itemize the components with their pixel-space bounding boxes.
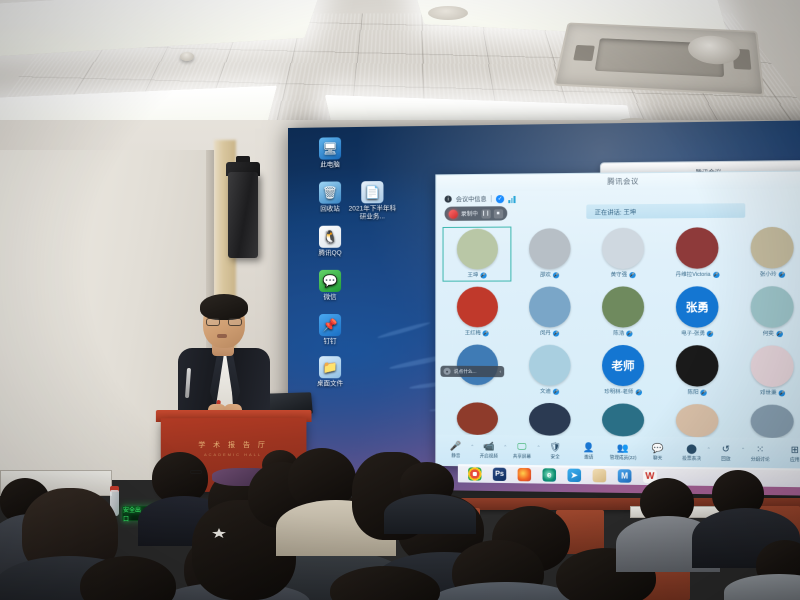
presenter-mouth [217,334,227,338]
mic-status-icon: 🎤 [635,389,641,395]
desktop-doc-icon: 📄 [361,181,383,203]
toolbar-icon: 📹 [483,441,495,452]
toolbar-label: 聊天 [653,455,662,461]
meeting-status-row: 录制中 ❙❙ ■ 正在讲话: 王坤 [436,203,800,224]
toolbar-静音-button[interactable]: 🎤静音^ [444,441,469,460]
taskbar-chrome-icon[interactable] [468,467,481,480]
participant-name-text: 张小玲 [760,271,777,278]
participant-avatar: 张勇 [676,286,719,327]
popup-avatar-icon: ● [444,368,451,375]
participant-avatar: 老师 [602,345,644,386]
record-icon [449,209,458,218]
projection-screen[interactable]: 🖥此电脑🗑回收站📄2021年下半年科研业务...🐧腾讯QQ💬微信📌钉钉📁桌面文件… [288,120,800,496]
participant-name-text: 王红梅 [465,329,481,336]
eyeglasses-icon [206,318,242,326]
signal-strength-icon [508,194,515,202]
toolbar-label: 管理成员(22) [610,455,637,461]
wall-speaker [228,172,258,258]
divider [491,195,492,202]
desktop-icon-label: 微信 [304,294,356,302]
participant-grid-row-1: 王坤🎤邵欢🎤黄守强🎤丹维拉Victoria🎤张小玲🎤 [443,225,800,282]
mic-status-icon: 🎤 [707,330,713,336]
desktop-icon-0[interactable]: 🖥此电脑 [304,137,356,170]
mic-status-icon: 🎤 [553,330,559,336]
mic-status-icon: 🎤 [779,390,785,396]
audience-shoulders [724,574,800,600]
participant-tile[interactable]: 邵欢🎤 [515,226,585,281]
desktop-icon-3[interactable]: 🐧腾讯QQ [304,226,356,259]
participant-name-text: 丹维拉Victoria [676,271,711,278]
participant-tile[interactable]: 黄守强🎤 [588,226,659,282]
toolbar-投票表决-button[interactable]: ⬤投票表决^ [679,443,705,462]
toolbar-icon: 🛡 [549,442,561,453]
participant-avatar [751,345,794,387]
participant-name-text: 邵欢 [540,271,551,278]
participant-tile[interactable]: 丹维拉Victoria🎤 [662,225,734,281]
participant-name-text: 王坤 [468,271,479,278]
audience-shoulders [384,494,476,534]
ceiling-spot [428,6,468,20]
toolbar-label: 应用 [790,457,800,463]
desktop-icon-label: 钉钉 [304,338,356,346]
desktop-icon-4[interactable]: 💬微信 [304,270,356,302]
desktop-icon-2[interactable]: 📄2021年下半年科研业务... [346,181,399,222]
desktop-bin-icon: 🗑 [319,181,341,203]
quick-comment-popup[interactable]: ● 说点什么... ‹ [440,366,504,377]
participant-avatar [751,227,794,269]
participant-name: 文迪🎤 [540,388,559,395]
quick-comment-text: 说点什么... [454,368,477,374]
toolbar-共享屏幕-button[interactable]: 🖵共享屏幕^ [509,441,534,460]
participant-tile[interactable]: 邓世秉🎤 [736,343,800,399]
participant-name: 王坤🎤 [468,271,487,278]
toolbar-开启视频-button[interactable]: 📹开启视频^ [476,441,501,460]
participant-avatar [456,287,497,328]
participant-name: 黄守强🎤 [611,271,636,278]
mic-status-icon: 🎤 [701,389,707,395]
toolbar-回放-button[interactable]: ↺回放^ [713,444,739,463]
encryption-shield-icon[interactable]: ✓ [496,195,504,203]
participant-name: 陈浩🎤 [613,330,632,337]
participant-avatar [676,345,719,387]
participant-tile[interactable] [443,400,512,435]
mic-status-icon: 🎤 [553,272,559,278]
taskbar-edge-icon[interactable]: e [543,468,557,481]
desktop-pc-icon: 🖥 [319,137,341,159]
taskbar-photoshop-icon[interactable]: Ps [493,467,506,480]
meeting-info-label[interactable]: 会议中信息 [456,194,487,203]
mic-status-icon: 🎤 [776,330,782,336]
participant-name: 邓世秉🎤 [760,389,785,396]
toolbar-label: 共享屏幕 [513,454,531,460]
mic-status-icon: 🎤 [629,271,635,277]
taskbar-blue-app-icon[interactable]: M [618,469,632,483]
participant-tile[interactable]: 文迪🎤 [515,343,585,399]
toolbar-label: 开启视频 [480,453,498,459]
toolbar-安全-button[interactable]: 🛡安全 [543,442,568,461]
participant-avatar [529,403,571,436]
participant-tile[interactable]: 陈阳🎤 [662,343,734,399]
active-speaker-banner: 正在讲话: 王坤 [586,203,745,219]
stop-recording-button[interactable]: ■ [493,209,502,218]
toolbar-邀请-button[interactable]: 👤邀请 [576,442,601,461]
participant-avatar [602,403,644,436]
toolbar-label: 回放 [721,456,730,462]
toolbar-label: 邀请 [584,454,593,460]
participant-grid-row-2: 王红梅🎤闵丹🎤陈浩🎤张勇电子-张勇🎤何奕🎤 [443,284,800,340]
participant-tile[interactable] [588,401,659,437]
recording-pill[interactable]: 录制中 ❙❙ ■ [445,206,507,221]
mic-status-icon: 🎤 [483,330,489,336]
participant-tile[interactable] [662,402,734,438]
participant-name: 电子-张勇🎤 [681,330,713,337]
participant-name: 王红梅🎤 [465,329,489,336]
chevron-up-icon[interactable]: ^ [538,444,540,449]
recording-label: 录制中 [461,209,478,217]
tencent-meeting-window[interactable]: 腾讯会议 i 会议中信息 ✓ 录制中 ❙❙ ■ 正在讲话: 王坤 王 [435,170,800,470]
desktop-icon-6[interactable]: 📁桌面文件 [304,356,356,389]
participant-name-text: 文迪 [540,388,551,395]
participant-tile[interactable] [736,402,800,438]
participant-tile[interactable]: 张小玲🎤 [736,225,800,281]
toolbar-icon: ⬤ [685,443,698,455]
participant-tile[interactable]: 王红梅🎤 [443,285,512,340]
toolbar-icon: ⁙ [754,444,767,456]
participant-avatar [602,286,644,327]
participant-name: 张小玲🎤 [760,271,785,278]
participant-name: 何奕🎤 [763,330,783,337]
participant-name-text: 陈浩 [613,330,624,337]
chevron-up-icon[interactable]: ^ [742,446,744,451]
participant-avatar [529,287,571,328]
lecture-hall-photo: 🖥此电脑🗑回收站📄2021年下半年科研业务...🐧腾讯QQ💬微信📌钉钉📁桌面文件… [0,0,800,600]
vent-slot [573,45,595,61]
participant-avatar [456,402,497,435]
toolbar-icon: 🎤 [450,441,462,452]
participant-name-text: 邓世秉 [760,389,777,396]
participant-name: 陈阳🎤 [688,389,708,396]
toolbar-icon: 👥 [617,443,630,454]
desktop-icon-label: 此电脑 [304,161,356,170]
toolbar-聊天-button[interactable]: 💬聊天 [645,443,670,462]
taskbar-firefox-icon[interactable] [518,467,531,480]
participant-avatar [751,405,794,439]
desktop-dd-icon: 📌 [319,314,341,336]
toolbar-icon: ↺ [719,444,732,456]
participant-name-text: 电子-张勇 [681,330,705,337]
participant-tile[interactable] [515,401,585,436]
participant-tile[interactable]: 老师珍明林-老师🎤 [588,343,659,399]
desktop-icon-5[interactable]: 📌钉钉 [304,314,356,346]
pause-recording-button[interactable]: ❙❙ [481,209,490,218]
smoke-detector-icon [180,52,194,61]
podium-engraved-text: 学 术 报 告 厅 [161,440,307,450]
toolbar-分组讨论-button[interactable]: ⁙分组讨论 [747,444,773,463]
participant-avatar [456,229,497,270]
participant-tile[interactable]: 闵丹🎤 [515,284,585,339]
desktop-icon-label: 腾讯QQ [304,250,356,258]
wallpaper-wave [377,321,431,340]
desktop-icon-label: 2021年下半年科研业务... [346,205,399,222]
info-icon[interactable]: i [445,196,452,203]
chevron-up-icon[interactable]: ^ [708,446,710,451]
mic-status-icon: 🎤 [626,330,632,336]
participant-name: 邵欢🎤 [540,271,559,278]
desktop-fold-icon: 📁 [319,356,341,378]
desktop-wx-icon: 💬 [319,270,341,292]
participant-grid-row-4 [443,400,800,438]
eyeglasses-icon [190,470,202,474]
participant-name-text: 何奕 [763,330,774,337]
participant-name-text: 陈阳 [688,389,699,396]
mic-status-icon: 🎤 [713,271,719,277]
mic-status-icon: 🎤 [553,388,559,394]
toolbar-管理成员22-button[interactable]: 👥管理成员(22) [610,442,637,461]
participant-tile[interactable]: 何奕🎤 [736,284,800,340]
desktop-icon-label: 桌面文件 [304,380,356,388]
participant-avatar [676,227,719,269]
toolbar-label: 静音 [451,453,460,459]
presenter-hair [200,294,248,320]
participant-name: 丹维拉Victoria🎤 [676,271,719,278]
participant-name-text: 闵丹 [540,329,551,336]
participant-avatar [529,228,571,269]
toolbar-icon: 💬 [651,443,664,454]
participant-avatar [676,404,719,437]
participant-name-text: 珍明林-老师 [604,388,633,395]
toolbar-icon: ⊞ [788,444,800,456]
toolbar-icon: 🖵 [516,441,528,452]
mic-status-icon: 🎤 [779,271,785,277]
toolbar-label: 投票表决 [682,456,701,462]
meeting-info-bar: i 会议中信息 ✓ [436,188,800,204]
toolbar-label: 分组讨论 [751,456,770,462]
chevron-up-icon[interactable]: ^ [471,443,473,448]
chevron-up-icon[interactable]: ^ [504,443,506,448]
participant-avatar [529,345,571,386]
mic-status-icon: 🎤 [480,272,486,278]
participant-name: 闵丹🎤 [540,329,559,336]
desktop-qq-icon: 🐧 [319,226,341,248]
participant-tile[interactable]: 张勇电子-张勇🎤 [662,284,734,340]
popup-collapse-icon[interactable]: ‹ [499,369,501,374]
toolbar-label: 安全 [551,454,560,460]
participant-tile[interactable]: 陈浩🎤 [588,284,659,340]
participant-tile[interactable]: 王坤🎤 [443,227,512,282]
toolbar-icon: 👤 [582,442,595,453]
participant-name: 珍明林-老师🎤 [604,388,642,395]
toolbar-应用-button[interactable]: ⊞应用 [782,444,800,463]
participant-avatar [751,286,794,328]
taskbar-telegram-icon[interactable]: ➤ [567,468,581,481]
participant-name-text: 黄守强 [611,271,627,278]
taskbar-folder-icon[interactable] [593,468,607,482]
participant-avatar [602,228,644,269]
